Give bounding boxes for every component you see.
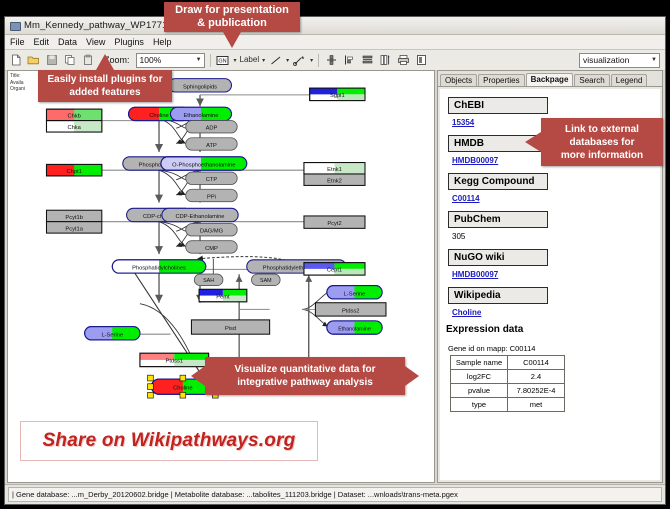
cell-key: Sample name	[451, 356, 508, 370]
section-kegg: Kegg Compound C00114	[448, 171, 660, 203]
gene-pisd[interactable]: Pisd	[191, 320, 269, 334]
node-sam[interactable]: SAM	[252, 274, 281, 285]
print-icon[interactable]	[396, 53, 411, 68]
tab-legend[interactable]: Legend	[611, 74, 648, 86]
side-tabs: Objects Properties Backpage Search Legen…	[438, 71, 662, 87]
svg-text:Sphingolipids: Sphingolipids	[183, 84, 217, 90]
align-top-icon[interactable]	[324, 53, 339, 68]
gene-chka[interactable]: Chka	[46, 121, 101, 132]
node-adp[interactable]: ADP	[186, 121, 237, 133]
svg-text:Pcyt2: Pcyt2	[327, 221, 341, 227]
app-icon	[9, 20, 20, 31]
svg-text:Ethanolamine: Ethanolamine	[183, 113, 218, 119]
cell-key: pvalue	[451, 384, 508, 398]
save-icon[interactable]	[44, 53, 59, 68]
gene-chkb[interactable]: Chkb	[46, 109, 101, 120]
callout-link: Link to external databases for more info…	[541, 118, 663, 166]
node-l-serine-left[interactable]: L-Serine	[85, 327, 140, 340]
page-icon[interactable]	[414, 53, 429, 68]
label-tool-label[interactable]: Label	[240, 56, 260, 64]
menu-item-edit[interactable]: Edit	[34, 37, 50, 47]
share-banner: Share on Wikipathways.org	[20, 421, 318, 461]
toolbar-separator-2	[318, 54, 319, 67]
svg-text:Choline: Choline	[173, 386, 192, 392]
callout-link-line3: more information	[561, 150, 643, 161]
svg-text:Etnk1: Etnk1	[327, 167, 342, 173]
callout-draw: Draw for presentation & publication	[164, 2, 300, 32]
wikipedia-header: Wikipedia	[448, 287, 548, 304]
pubchem-header: PubChem	[448, 211, 548, 228]
gene-ptdss2[interactable]: Ptdss2	[315, 303, 386, 316]
svg-text:Ptdss2: Ptdss2	[342, 308, 359, 314]
callout-plugins-tail	[96, 54, 114, 70]
gene-pcyt1a[interactable]: Pcyt1a	[46, 222, 101, 233]
svg-text:GN: GN	[218, 58, 226, 64]
table-row: type met	[451, 398, 565, 412]
svg-text:DAG/MG: DAG/MG	[200, 229, 224, 235]
expression-table: Sample name C00114 log2FC 2.4 pvalue 7.8…	[450, 355, 565, 412]
callout-visualize-line2: integrative pathway analysis	[235, 376, 376, 389]
menu-bar: File Edit Data View Plugins Help	[5, 35, 665, 50]
node-cmp[interactable]: CMP	[186, 241, 237, 253]
gene-id-line: Gene id on mapp: C00114	[448, 344, 660, 353]
datanode-icon[interactable]: GN	[216, 53, 231, 68]
callout-plugins: Easily install plugins for added feature…	[38, 70, 172, 102]
gene-pcyt2[interactable]: Pcyt2	[304, 216, 365, 228]
callout-link-line2: databases for	[569, 137, 634, 148]
svg-text:Pcyt1a: Pcyt1a	[65, 226, 83, 232]
tab-objects[interactable]: Objects	[440, 74, 477, 86]
node-ethanolamine[interactable]: Ethanolamine	[170, 107, 231, 120]
stack-center-icon[interactable]	[360, 53, 375, 68]
interaction-icon[interactable]	[292, 53, 307, 68]
section-nugo: NuGO wiki HMDB00097	[448, 247, 660, 279]
nugo-link[interactable]: HMDB00097	[452, 270, 660, 279]
svg-text:SAM: SAM	[260, 278, 272, 284]
tab-properties[interactable]: Properties	[478, 74, 524, 86]
cell-value: 7.80252E-4	[508, 384, 565, 398]
callout-visualize-tail-left	[191, 366, 205, 386]
cell-key: type	[451, 398, 508, 412]
kegg-header: Kegg Compound	[448, 173, 548, 190]
gene-pcyt1b[interactable]: Pcyt1b	[46, 210, 101, 221]
node-dagmg[interactable]: DAG/MG	[186, 224, 237, 236]
node-o-phosphoethanolamine[interactable]: O-Phosphoethanolamine	[161, 157, 247, 170]
paste-icon[interactable]	[80, 53, 95, 68]
common-width-icon[interactable]	[378, 53, 393, 68]
svg-text:Choline: Choline	[149, 113, 168, 119]
gene-etnk1[interactable]: Etnk1	[304, 163, 365, 174]
gene-cept1[interactable]: Cept1	[304, 263, 365, 275]
svg-text:O-Phosphoethanolamine: O-Phosphoethanolamine	[172, 163, 235, 169]
datanode-dropdown-arrow-icon[interactable]: ▾	[234, 57, 237, 64]
callout-draw-line2: & publication	[197, 17, 267, 29]
svg-text:SAH: SAH	[203, 278, 214, 284]
callout-draw-tail	[223, 32, 241, 48]
chebi-header: ChEBI	[448, 97, 548, 114]
svg-text:ADP: ADP	[206, 126, 218, 132]
expression-data-title: Expression data	[446, 324, 660, 335]
cell-value: met	[508, 398, 565, 412]
svg-text:Pemt: Pemt	[216, 294, 230, 300]
table-row: pvalue 7.80252E-4	[451, 384, 565, 398]
label-dropdown-arrow-icon[interactable]: ▾	[262, 57, 265, 64]
menu-item-view[interactable]: View	[86, 37, 105, 47]
callout-visualize-line1: Visualize quantitative data for	[235, 363, 376, 376]
tab-backpage[interactable]: Backpage	[526, 73, 574, 86]
menu-item-data[interactable]: Data	[58, 37, 77, 47]
share-text: Share on Wikipathways.org	[43, 430, 296, 452]
section-wikipedia: Wikipedia Choline	[448, 285, 660, 317]
node-phosphatidylcholines[interactable]: Phosphatidylcholines	[112, 260, 205, 273]
menu-item-help[interactable]: Help	[153, 37, 172, 47]
node-l-serine-right[interactable]: L-Serine	[327, 286, 382, 299]
open-folder-icon[interactable]	[26, 53, 41, 68]
cell-value: 2.4	[508, 370, 565, 384]
svg-text:L-Serine: L-Serine	[344, 291, 366, 297]
svg-text:Ptdss1: Ptdss1	[166, 358, 183, 364]
node-cdp-ethanolamine[interactable]: CDP-Ethanolamine	[162, 208, 238, 221]
line-dropdown-arrow-icon[interactable]: ▾	[286, 57, 289, 64]
svg-text:PPi: PPi	[207, 194, 216, 200]
table-row: log2FC 2.4	[451, 370, 565, 384]
svg-text:Sgpl1: Sgpl1	[330, 93, 345, 99]
kegg-link[interactable]: C00114	[452, 194, 660, 203]
tab-search[interactable]: Search	[574, 74, 609, 86]
svg-text:Ethanolamine: Ethanolamine	[338, 327, 371, 333]
svg-text:Phosphatidylcholines: Phosphatidylcholines	[132, 266, 186, 272]
zoom-value: 100%	[140, 55, 162, 65]
gene-pemt[interactable]: Pemt	[199, 289, 247, 301]
nugo-header: NuGO wiki	[448, 249, 548, 266]
menu-item-plugins[interactable]: Plugins	[114, 37, 144, 47]
callout-link-line1: Link to external	[565, 124, 639, 135]
cell-key: log2FC	[451, 370, 508, 384]
pathway-canvas[interactable]: Title: Availa Organi	[7, 70, 435, 483]
node-atp[interactable]: ATP	[186, 138, 237, 150]
chevron-down-icon: ▼	[196, 57, 202, 63]
table-row: Sample name C00114	[451, 356, 565, 370]
callout-draw-line1: Draw for presentation	[175, 4, 289, 16]
gene-sgpl1[interactable]: Sgpl1	[310, 88, 365, 100]
svg-text:CMP: CMP	[205, 246, 218, 252]
callout-link-tail	[525, 132, 541, 152]
svg-text:Pcyt1b: Pcyt1b	[65, 215, 82, 221]
svg-text:L-Serine: L-Serine	[101, 332, 123, 338]
line-icon[interactable]	[268, 53, 283, 68]
svg-text:CTP: CTP	[206, 177, 218, 183]
align-left-icon[interactable]	[342, 53, 357, 68]
chevron-down-icon-2: ▼	[651, 57, 657, 63]
status-bar: | Gene database: ...m_Derby_20120602.bri…	[5, 484, 665, 504]
visualization-combo[interactable]: visualization ▼	[579, 53, 660, 68]
zoom-combo[interactable]: 100% ▼	[136, 53, 205, 68]
svg-text:Chpt1: Chpt1	[67, 169, 82, 175]
node-sphingolipids[interactable]: Sphingolipids	[169, 79, 232, 92]
copy-icon[interactable]	[62, 53, 77, 68]
svg-text:ATP: ATP	[206, 143, 217, 149]
svg-text:Etnk2: Etnk2	[327, 179, 342, 185]
wikipedia-link[interactable]: Choline	[452, 308, 660, 317]
svg-text:CDP-Ethanolamine: CDP-Ethanolamine	[176, 214, 225, 220]
svg-text:Chkb: Chkb	[67, 114, 80, 120]
screenshot-root: Mm_Kennedy_pathway_WP1771_45176.gpml Fil…	[0, 0, 670, 509]
node-ethanolamine-bottom[interactable]: Ethanolamine	[327, 321, 382, 334]
callout-visualize: Visualize quantitative data for integrat…	[205, 357, 405, 395]
gene-ptdss1[interactable]: Ptdss1	[140, 353, 209, 366]
node-ctp[interactable]: CTP	[186, 172, 237, 184]
section-pubchem: PubChem 305	[448, 209, 660, 241]
callout-plugins-line1: Easily install plugins for	[47, 74, 162, 85]
toolbar-separator	[210, 54, 211, 67]
menu-item-file[interactable]: File	[10, 37, 25, 47]
gene-etnk2[interactable]: Etnk2	[304, 174, 365, 185]
node-sah[interactable]: SAH	[194, 274, 223, 285]
node-ppi[interactable]: PPi	[186, 189, 237, 201]
callout-visualize-tail-right	[405, 366, 419, 386]
svg-text:Pisd: Pisd	[225, 326, 236, 332]
new-file-icon[interactable]	[8, 53, 23, 68]
svg-text:Chka: Chka	[67, 125, 81, 131]
gene-chpt1[interactable]: Chpt1	[46, 164, 101, 175]
pubchem-value: 305	[452, 232, 660, 241]
title-bar: Mm_Kennedy_pathway_WP1771_45176.gpml	[5, 17, 665, 35]
svg-text:Cept1: Cept1	[327, 268, 342, 274]
visualization-value: visualization	[583, 55, 629, 65]
status-text: | Gene database: ...m_Derby_20120602.bri…	[8, 487, 662, 502]
interaction-dropdown-arrow-icon[interactable]: ▾	[310, 57, 313, 64]
callout-plugins-line2: added features	[69, 87, 140, 98]
cell-value: C00114	[508, 356, 565, 370]
